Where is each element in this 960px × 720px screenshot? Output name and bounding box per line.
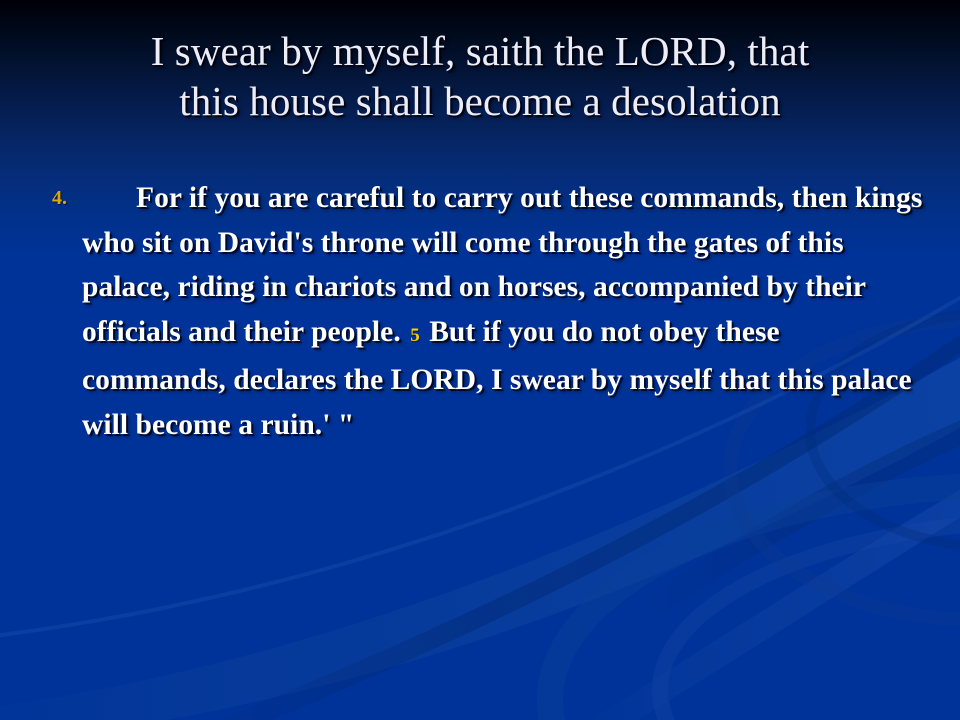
slide-canvas: I swear by myself, saith the LORD, that … [0,0,960,720]
bullet-marker: 4. [46,176,82,220]
verse-number: 5 [408,325,422,346]
slide-body: 4. For if you are careful to carry out t… [46,176,926,447]
slide-title: I swear by myself, saith the LORD, that … [0,26,960,126]
slide-title-line-1: I swear by myself, saith the LORD, that [14,26,946,76]
slide-title-line-2: this house shall become a desolation [14,76,946,126]
body-paragraph: For if you are careful to carry out thes… [82,176,926,447]
